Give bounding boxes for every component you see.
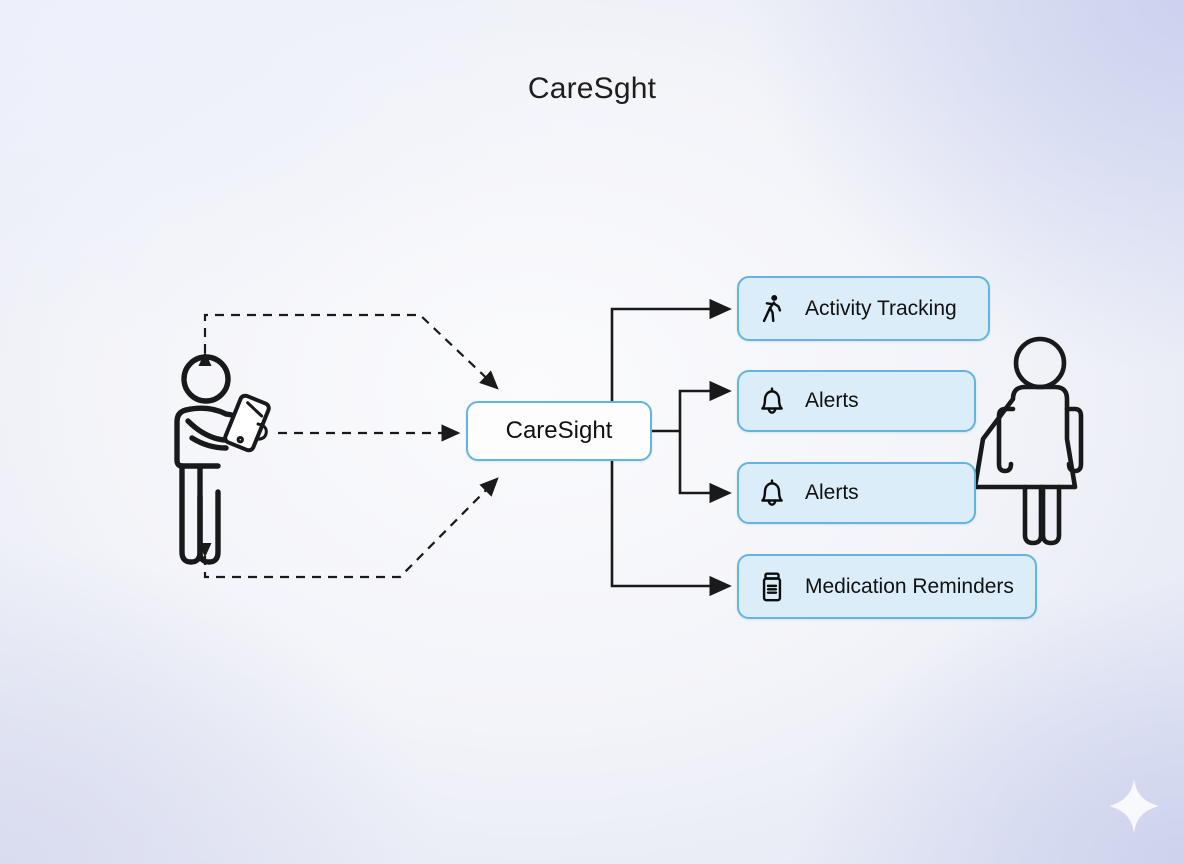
feature-label: Alerts	[805, 481, 859, 505]
connector-to-alerts-1	[680, 391, 729, 431]
feature-box-alerts-1[interactable]: Alerts	[737, 370, 976, 432]
walking-person-icon	[755, 292, 789, 326]
bell-icon	[755, 384, 789, 418]
connector-to-alerts-2	[680, 431, 729, 493]
pill-bottle-icon	[755, 570, 789, 604]
patient-figure	[975, 339, 1081, 543]
feature-box-alerts-2[interactable]: Alerts	[737, 462, 976, 524]
dashed-loop-bottom	[205, 479, 497, 577]
bell-icon	[755, 476, 789, 510]
diagram-canvas: CareSght	[0, 0, 1184, 864]
feature-label: Alerts	[805, 389, 859, 413]
caregiver-figure	[177, 357, 250, 562]
node-caresight[interactable]: CareSight	[466, 401, 652, 461]
feature-label: Medication Reminders	[805, 575, 1014, 599]
dashed-loop-top	[205, 315, 497, 388]
feature-label: Activity Tracking	[805, 297, 957, 321]
connector-to-medication	[612, 461, 729, 586]
sparkle-icon	[1106, 776, 1162, 836]
node-caresight-label: CareSight	[506, 417, 613, 445]
feature-box-activity-tracking[interactable]: Activity Tracking	[737, 276, 990, 341]
connector-to-activity	[612, 309, 729, 401]
feature-box-medication-reminders[interactable]: Medication Reminders	[737, 554, 1037, 619]
